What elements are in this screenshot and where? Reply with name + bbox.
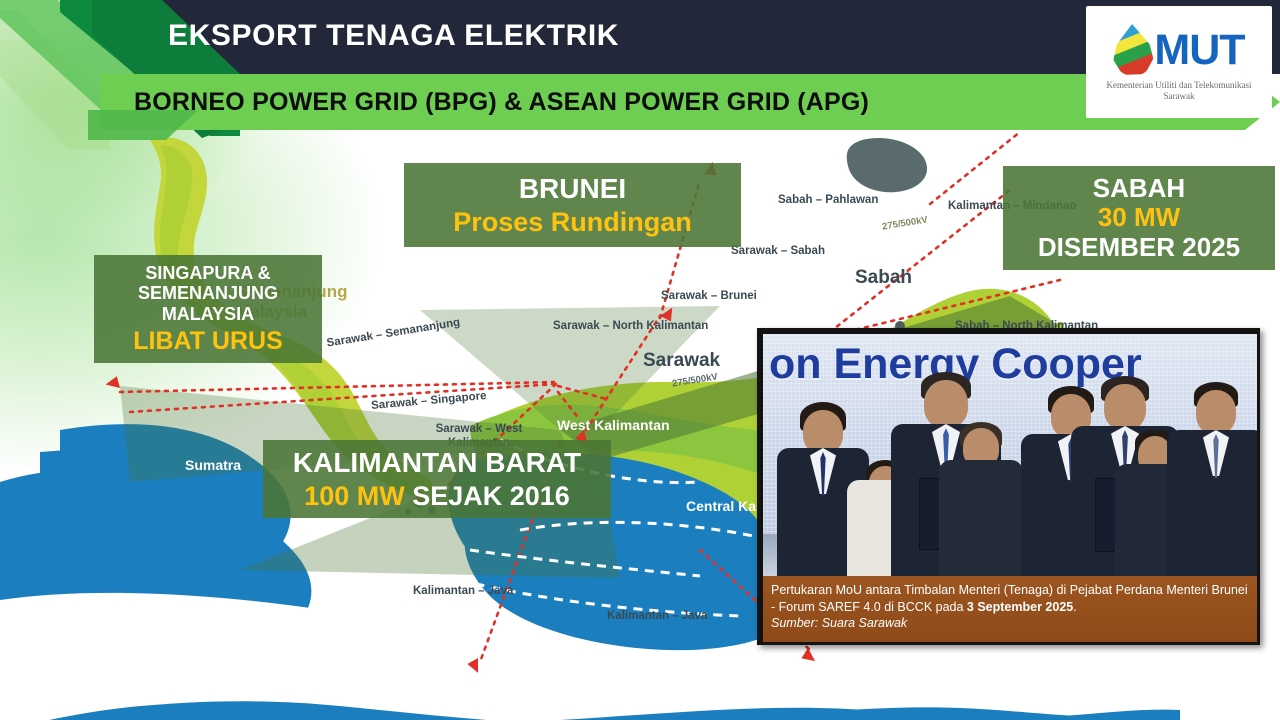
callout-sabah-capacity: 30 MW	[1098, 203, 1180, 233]
ministry-logo: MUT Kementerian Utiliti dan Telekomunika…	[1086, 6, 1272, 118]
callout-kalbar-detail: 100 MW SEJAK 2016	[304, 481, 570, 512]
map-label-sabah-pahlawan: Sabah – Pahlawan	[778, 194, 878, 206]
callout-sabah: SABAH 30 MW DISEMBER 2025	[1003, 166, 1275, 270]
map-label-region-sabah: Sabah	[855, 267, 912, 289]
callout-brunei-title: BRUNEI	[519, 173, 626, 205]
caption-date: 3 September 2025	[967, 600, 1073, 614]
logo-wordmark: MUT	[1154, 25, 1244, 75]
event-photo-card: on Energy Cooper	[757, 328, 1260, 645]
map-label-sarawak-north-kalimantan: Sarawak – North Kalimantan	[553, 320, 708, 332]
callout-kalbar-since: SEJAK 2016	[412, 481, 570, 511]
callout-brunei: BRUNEI Proses Rundingan	[404, 163, 741, 247]
page-title: EKSPORT TENAGA ELEKTRIK	[168, 8, 1068, 64]
map-label-java: Java	[586, 686, 626, 707]
callout-kalimantan-barat: KALIMANTAN BARAT 100 MW SEJAK 2016	[263, 440, 611, 518]
callout-brunei-status: Proses Rundingan	[453, 207, 692, 238]
callout-singapore-status: LIBAT URUS	[133, 327, 283, 356]
page-subtitle: BORNEO POWER GRID (BPG) & ASEAN POWER GR…	[134, 76, 869, 128]
map-label-kalimantan-java-2: Kalimantan – Java	[607, 610, 707, 622]
photo-caption: Pertukaran MoU antara Timbalan Menteri (…	[763, 576, 1257, 642]
map-label-sumatra: Sumatra	[185, 457, 241, 473]
callout-singapore-peninsular: SINGAPURA & SEMENANJUNG MALAYSIA LIBAT U…	[94, 255, 322, 363]
map-label-region-west-kalimantan: West Kalimantan	[557, 417, 670, 433]
caption-source: Sumber: Suara Sarawak	[771, 616, 907, 630]
caption-line-1: Pertukaran MoU antara Timbalan Menteri (…	[771, 583, 1163, 597]
slide-canvas: Sabah – Pahlawan Sarawak – Sabah Sarawak…	[0, 0, 1280, 720]
map-label-kalimantan-java-1: Kalimantan – Java	[413, 585, 513, 597]
person-4	[939, 408, 1023, 576]
callout-singapore-line3: MALAYSIA	[162, 304, 254, 325]
callout-kalbar-title: KALIMANTAN BARAT	[293, 447, 581, 479]
map-label-sarawak-brunei: Sarawak – Brunei	[661, 290, 757, 302]
map-label-sarawak-sabah: Sarawak – Sabah	[731, 245, 825, 257]
event-photo: on Energy Cooper	[763, 334, 1257, 576]
flame-droplet-icon	[1113, 24, 1153, 76]
person-8	[1167, 376, 1257, 576]
mindanao-tip	[847, 138, 927, 192]
callout-singapore-line2: SEMENANJUNG	[138, 283, 278, 304]
callout-singapore-line1: SINGAPURA &	[145, 263, 270, 284]
caption-line-2c: .	[1073, 600, 1076, 614]
callout-sabah-date: DISEMBER 2025	[1038, 233, 1240, 263]
logo-mark-row: MUT	[1113, 22, 1244, 78]
logo-subtitle: Kementerian Utiliti dan Telekomunikasi S…	[1094, 80, 1264, 102]
map-label-region-sarawak: Sarawak	[643, 350, 720, 372]
callout-kalbar-capacity: 100 MW	[304, 481, 405, 511]
callout-sabah-title: SABAH	[1093, 174, 1185, 204]
